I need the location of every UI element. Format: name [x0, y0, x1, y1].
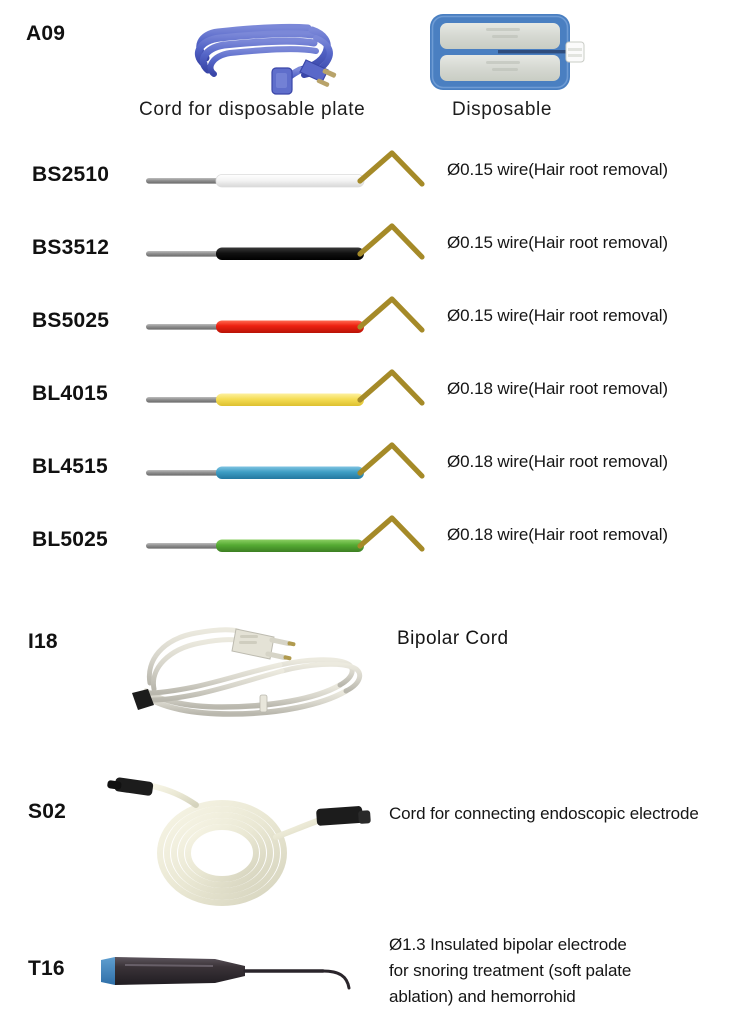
electrode-bl4015-icon — [146, 359, 446, 417]
probe-description-line-2: for snoring treatment (soft palate — [389, 958, 631, 984]
endoscopic-cord-description: Cord for connecting endoscopic electrode — [389, 804, 699, 824]
bipolar-cord-description: Bipolar Cord — [397, 628, 509, 650]
electrode-bl5025-icon — [146, 505, 446, 563]
cord-blue-icon — [188, 12, 363, 97]
probe-description-line-1: Ø1.3 Insulated bipolar electrode — [389, 932, 631, 958]
product-code-bs5025: BS5025 — [32, 309, 109, 333]
electrode-bl4015-description: Ø0.18 wire(Hair root removal) — [447, 379, 668, 399]
caption-cord-for-disposable-plate: Cord for disposable plate — [139, 99, 365, 121]
product-code-i18: I18 — [28, 630, 58, 654]
bipolar-probe-icon — [95, 940, 380, 1002]
electrode-bl4515-icon — [146, 432, 446, 490]
product-code-s02: S02 — [28, 800, 66, 824]
electrode-bl4515-description: Ø0.18 wire(Hair root removal) — [447, 452, 668, 472]
electrode-bs3512-description: Ø0.15 wire(Hair root removal) — [447, 233, 668, 253]
product-code-bl4015: BL4015 — [32, 382, 108, 406]
caption-disposable: Disposable — [452, 99, 552, 121]
bipolar-probe-description: Ø1.3 Insulated bipolar electrode for sno… — [389, 932, 631, 1010]
electrode-bs5025-icon — [146, 286, 446, 344]
product-code-t16: T16 — [28, 957, 65, 981]
product-code-a09: A09 — [26, 22, 65, 46]
product-code-bs3512: BS3512 — [32, 236, 109, 260]
electrode-bs2510-description: Ø0.15 wire(Hair root removal) — [447, 160, 668, 180]
product-code-bl4515: BL4515 — [32, 455, 108, 479]
bipolar-cord-icon — [110, 615, 380, 725]
product-code-bl5025: BL5025 — [32, 528, 108, 552]
endoscopic-cord-icon — [100, 765, 400, 905]
electrode-bl5025-description: Ø0.18 wire(Hair root removal) — [447, 525, 668, 545]
disposable-plate-icon — [428, 12, 588, 92]
electrode-bs2510-icon — [146, 140, 446, 198]
product-code-bs2510: BS2510 — [32, 163, 109, 187]
probe-description-line-3: ablation) and hemorrohid — [389, 984, 631, 1010]
electrode-bs3512-icon — [146, 213, 446, 271]
electrode-bs5025-description: Ø0.15 wire(Hair root removal) — [447, 306, 668, 326]
